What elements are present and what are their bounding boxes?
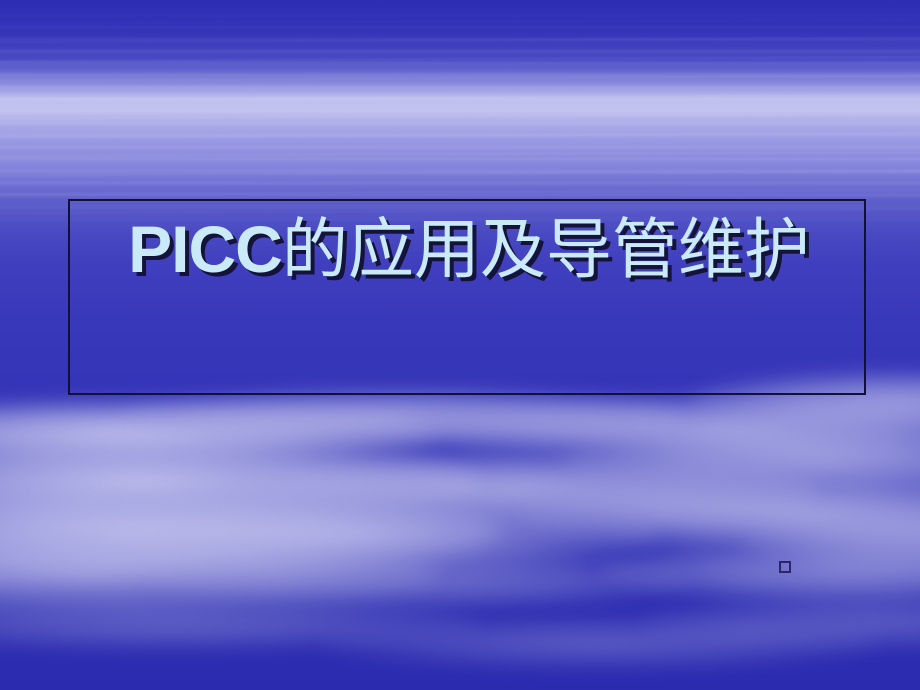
- title-han-text-line1: 的应用及导管: [282, 212, 678, 286]
- slide-canvas: PICC的应用及导管维护: [0, 0, 920, 690]
- title-placeholder-box[interactable]: PICC的应用及导管维护: [68, 199, 866, 395]
- page-title: PICC的应用及导管维护: [58, 200, 880, 298]
- title-latin-text: PICC: [128, 212, 282, 286]
- empty-placeholder-marker-icon[interactable]: [779, 561, 791, 573]
- haze-streaks-upper-secondary: [0, 0, 920, 232]
- title-han-text-line2: 维护: [678, 212, 810, 286]
